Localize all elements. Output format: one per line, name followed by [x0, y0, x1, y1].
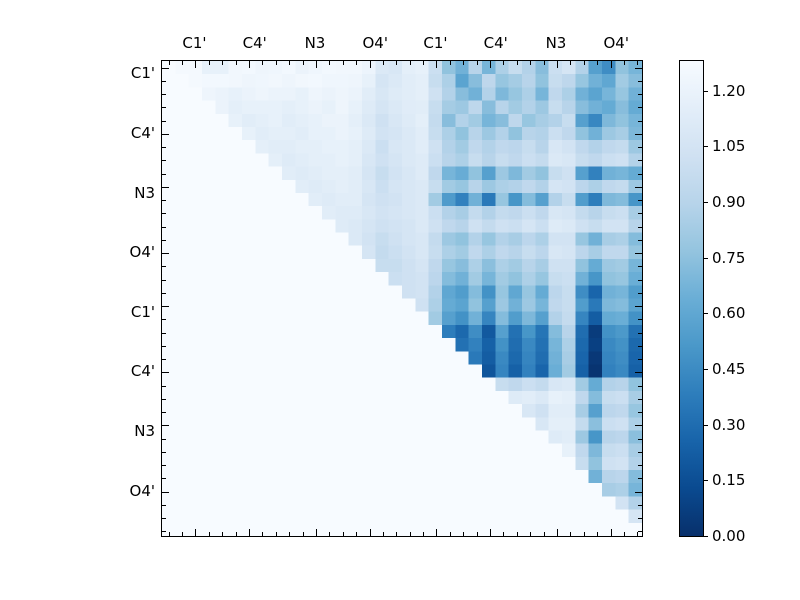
y-tick-left-1	[162, 81, 166, 82]
y-tick-right-5	[635, 134, 642, 135]
y-tick-left-14	[162, 253, 169, 254]
x-tick-bottom-9	[289, 532, 290, 536]
y-tick-left-21	[162, 346, 166, 347]
y-tick-left-16	[162, 280, 166, 281]
x-tick-top-17	[396, 61, 397, 65]
y-tick-right-13	[638, 240, 642, 241]
y-tick-left-0	[162, 68, 169, 69]
x-tick-bottom-10	[303, 532, 304, 536]
y-tick-left-31	[162, 478, 166, 479]
y-tick-left-18	[162, 306, 169, 307]
y-tick-left-35	[162, 531, 166, 532]
x-tick-top-16	[383, 61, 384, 65]
x-tick-bottom-8	[276, 532, 277, 536]
x-tick-top-22	[463, 61, 464, 65]
colorbar-tick-1	[703, 480, 708, 481]
x-tick-bottom-24	[490, 529, 491, 536]
y-tick-left-30	[162, 465, 166, 466]
x-tick-top-21	[450, 61, 451, 65]
x-tick-top-13	[343, 61, 344, 65]
x-tick-top-26	[517, 61, 518, 65]
x-tick-bottom-23	[477, 532, 478, 536]
y-tick-right-20	[638, 333, 642, 334]
x-tick-bottom-15	[370, 529, 371, 536]
colorbar-tick-label-3: 0.45	[712, 360, 745, 378]
x-tick-top-27	[530, 61, 531, 65]
y-tick-right-33	[638, 505, 642, 506]
x-tick-bottom-27	[530, 532, 531, 536]
y-tick-right-26	[638, 412, 642, 413]
x-tick-top-3	[209, 61, 210, 65]
colorbar-tick-label-0: 0.00	[712, 527, 745, 545]
y-tick-left-9	[162, 187, 169, 188]
y-tick-right-3	[638, 107, 642, 108]
colorbar-tick-4	[703, 313, 708, 314]
x-tick-bottom-31	[584, 532, 585, 536]
heatmap-axes[interactable]	[161, 60, 643, 537]
heatmap-grid	[162, 61, 642, 536]
y-tick-left-26	[162, 412, 166, 413]
x-tick-label-7: O4'	[603, 34, 628, 52]
y-tick-right-4	[638, 121, 642, 122]
x-tick-top-5	[236, 61, 237, 65]
x-tick-label-5: C4'	[484, 34, 508, 52]
x-tick-bottom-13	[343, 532, 344, 536]
x-tick-bottom-6	[249, 529, 250, 536]
colorbar-tick-0	[703, 536, 708, 537]
x-tick-top-23	[477, 61, 478, 65]
y-tick-label-4: C1'	[131, 303, 155, 321]
x-tick-top-24	[490, 61, 491, 68]
x-tick-top-31	[584, 61, 585, 65]
y-tick-left-22	[162, 359, 166, 360]
y-tick-right-24	[638, 386, 642, 387]
x-tick-bottom-21	[450, 532, 451, 536]
colorbar-tick-3	[703, 369, 708, 370]
x-tick-top-11	[316, 61, 317, 68]
y-tick-right-30	[638, 465, 642, 466]
y-tick-left-7	[162, 160, 166, 161]
x-tick-bottom-7	[262, 532, 263, 536]
colorbar-tick-label-2: 0.30	[712, 416, 745, 434]
colorbar-tick-label-6: 0.90	[712, 193, 745, 211]
y-tick-label-7: O4'	[130, 482, 155, 500]
x-tick-bottom-25	[503, 532, 504, 536]
x-tick-top-14	[356, 61, 357, 65]
x-tick-top-20	[436, 61, 437, 68]
y-tick-right-19	[638, 319, 642, 320]
x-tick-bottom-11	[316, 529, 317, 536]
y-tick-left-19	[162, 319, 166, 320]
y-tick-left-32	[162, 492, 169, 493]
x-tick-bottom-12	[329, 532, 330, 536]
y-tick-label-2: N3	[134, 184, 155, 202]
colorbar-tick-6	[703, 202, 708, 203]
y-tick-left-17	[162, 293, 166, 294]
colorbar-tick-5	[703, 258, 708, 259]
y-tick-right-14	[635, 253, 642, 254]
y-tick-left-3	[162, 107, 166, 108]
y-tick-right-8	[638, 174, 642, 175]
x-tick-top-10	[303, 61, 304, 65]
colorbar[interactable]: 0.000.150.300.450.600.750.901.051.20	[679, 60, 704, 537]
y-tick-right-21	[638, 346, 642, 347]
x-tick-top-35	[637, 61, 638, 65]
colorbar-tick-2	[703, 425, 708, 426]
colorbar-tick-label-8: 1.20	[712, 82, 745, 100]
x-tick-bottom-26	[517, 532, 518, 536]
x-tick-top-18	[410, 61, 411, 65]
y-tick-left-13	[162, 240, 166, 241]
x-tick-bottom-5	[236, 532, 237, 536]
y-tick-right-27	[635, 425, 642, 426]
y-tick-right-6	[638, 147, 642, 148]
x-tick-bottom-20	[436, 529, 437, 536]
x-tick-bottom-22	[463, 532, 464, 536]
x-tick-top-12	[329, 61, 330, 65]
x-tick-bottom-32	[597, 532, 598, 536]
y-tick-right-9	[635, 187, 642, 188]
y-tick-left-24	[162, 386, 166, 387]
colorbar-tick-label-5: 0.75	[712, 249, 745, 267]
y-tick-right-34	[638, 518, 642, 519]
x-tick-label-0: C1'	[182, 34, 206, 52]
y-tick-right-35	[638, 531, 642, 532]
y-tick-left-25	[162, 399, 166, 400]
colorbar-tick-label-4: 0.60	[712, 304, 745, 322]
x-tick-bottom-3	[209, 532, 210, 536]
y-tick-left-15	[162, 266, 166, 267]
colorbar-tick-7	[703, 146, 708, 147]
x-tick-top-4	[222, 61, 223, 65]
y-tick-left-27	[162, 425, 169, 426]
x-tick-top-30	[570, 61, 571, 65]
y-tick-left-5	[162, 134, 169, 135]
y-tick-right-7	[638, 160, 642, 161]
y-tick-right-25	[638, 399, 642, 400]
y-tick-right-31	[638, 478, 642, 479]
x-tick-bottom-29	[557, 529, 558, 536]
y-tick-left-2	[162, 94, 166, 95]
x-tick-top-25	[503, 61, 504, 65]
figure-canvas: 0.000.150.300.450.600.750.901.051.20 C1'…	[0, 0, 800, 600]
x-tick-label-4: C1'	[423, 34, 447, 52]
x-tick-bottom-30	[570, 532, 571, 536]
x-tick-top-7	[262, 61, 263, 65]
y-tick-left-20	[162, 333, 166, 334]
y-tick-right-1	[638, 81, 642, 82]
y-tick-right-22	[638, 359, 642, 360]
x-tick-bottom-35	[637, 532, 638, 536]
x-tick-bottom-4	[222, 532, 223, 536]
y-tick-right-11	[638, 213, 642, 214]
x-tick-label-2: N3	[305, 34, 326, 52]
x-tick-top-9	[289, 61, 290, 65]
x-tick-top-33	[611, 61, 612, 68]
x-tick-top-8	[276, 61, 277, 65]
x-tick-bottom-1	[182, 532, 183, 536]
y-tick-left-10	[162, 200, 166, 201]
colorbar-tick-label-7: 1.05	[712, 137, 745, 155]
y-tick-right-16	[638, 280, 642, 281]
x-tick-top-6	[249, 61, 250, 68]
y-tick-right-12	[638, 227, 642, 228]
x-tick-bottom-33	[611, 529, 612, 536]
y-tick-right-2	[638, 94, 642, 95]
x-tick-bottom-28	[544, 532, 545, 536]
y-tick-left-23	[162, 372, 169, 373]
y-tick-right-32	[635, 492, 642, 493]
y-tick-left-33	[162, 505, 166, 506]
x-tick-bottom-16	[383, 532, 384, 536]
y-tick-left-4	[162, 121, 166, 122]
colorbar-gradient	[680, 61, 703, 536]
y-tick-left-6	[162, 147, 166, 148]
x-tick-label-3: O4'	[362, 34, 387, 52]
y-tick-label-6: N3	[134, 422, 155, 440]
x-tick-bottom-0	[169, 532, 170, 536]
y-tick-label-5: C4'	[131, 362, 155, 380]
x-tick-top-2	[195, 61, 196, 68]
y-tick-right-15	[638, 266, 642, 267]
x-tick-bottom-19	[423, 532, 424, 536]
y-tick-right-29	[638, 452, 642, 453]
x-tick-label-1: C4'	[243, 34, 267, 52]
y-tick-left-29	[162, 452, 166, 453]
x-tick-top-0	[169, 61, 170, 65]
x-tick-bottom-18	[410, 532, 411, 536]
y-tick-left-28	[162, 439, 166, 440]
y-tick-label-0: C1'	[131, 64, 155, 82]
y-tick-left-11	[162, 213, 166, 214]
x-tick-bottom-34	[624, 532, 625, 536]
y-tick-right-10	[638, 200, 642, 201]
y-tick-left-8	[162, 174, 166, 175]
colorbar-tick-8	[703, 91, 708, 92]
y-tick-label-1: C4'	[131, 124, 155, 142]
y-tick-right-23	[635, 372, 642, 373]
x-tick-bottom-14	[356, 532, 357, 536]
x-tick-top-34	[624, 61, 625, 65]
y-tick-right-18	[635, 306, 642, 307]
x-tick-bottom-2	[195, 529, 196, 536]
x-tick-top-29	[557, 61, 558, 68]
x-tick-top-28	[544, 61, 545, 65]
y-tick-right-0	[635, 68, 642, 69]
y-tick-label-3: O4'	[130, 243, 155, 261]
y-tick-right-28	[638, 439, 642, 440]
x-tick-top-19	[423, 61, 424, 65]
x-tick-top-15	[370, 61, 371, 68]
y-tick-left-12	[162, 227, 166, 228]
y-tick-right-17	[638, 293, 642, 294]
colorbar-tick-label-1: 0.15	[712, 471, 745, 489]
y-tick-left-34	[162, 518, 166, 519]
x-tick-top-1	[182, 61, 183, 65]
x-tick-top-32	[597, 61, 598, 65]
x-tick-label-6: N3	[546, 34, 567, 52]
x-tick-bottom-17	[396, 532, 397, 536]
